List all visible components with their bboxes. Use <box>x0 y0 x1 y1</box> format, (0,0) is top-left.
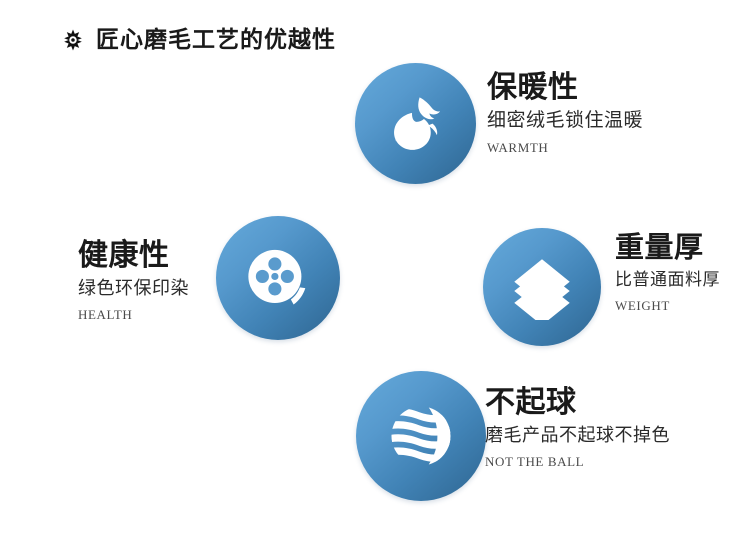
flame-icon <box>380 88 452 160</box>
feature-health-badge <box>216 216 340 340</box>
feature-no-pilling-text: 不起球 磨毛产品不起球不掉色 NOT THE BALL <box>485 387 670 470</box>
feature-warmth-text: 保暖性 细密绒毛锁住温暖 WARMTH <box>487 72 643 156</box>
feature-warmth-subtitle: 细密绒毛锁住温暖 <box>487 109 643 133</box>
flower-star-icon <box>62 29 84 51</box>
feature-health-subtitle: 绿色环保印染 <box>78 277 189 300</box>
feature-warmth-title: 保暖性 <box>487 72 643 104</box>
feature-health-english: HEALTH <box>78 307 189 323</box>
infographic-canvas: 匠心磨毛工艺的优越性 保暖性 细密绒毛锁住温暖 WARMTH <box>0 0 750 550</box>
feature-warmth-english: WARMTH <box>487 140 643 156</box>
page-header: 匠心磨毛工艺的优越性 <box>62 28 336 51</box>
woven-globe-icon <box>380 395 462 477</box>
stacked-layers-icon <box>509 254 575 320</box>
feature-no-pilling-title: 不起球 <box>485 387 670 419</box>
feature-no-pilling-english: NOT THE BALL <box>485 454 670 470</box>
film-reel-icon <box>239 239 317 317</box>
feature-warmth-badge <box>355 63 476 184</box>
feature-health-title: 健康性 <box>78 240 189 272</box>
feature-weight-text: 重量厚 比普通面料厚 WEIGHT <box>615 233 720 314</box>
feature-no-pilling-badge <box>356 371 486 501</box>
feature-no-pilling-subtitle: 磨毛产品不起球不掉色 <box>485 424 670 447</box>
feature-weight-subtitle: 比普通面料厚 <box>615 269 720 290</box>
feature-weight-english: WEIGHT <box>615 298 720 314</box>
feature-health-text: 健康性 绿色环保印染 HEALTH <box>78 240 189 323</box>
feature-weight-badge <box>483 228 601 346</box>
page-title: 匠心磨毛工艺的优越性 <box>96 28 336 51</box>
feature-weight-title: 重量厚 <box>615 233 720 264</box>
